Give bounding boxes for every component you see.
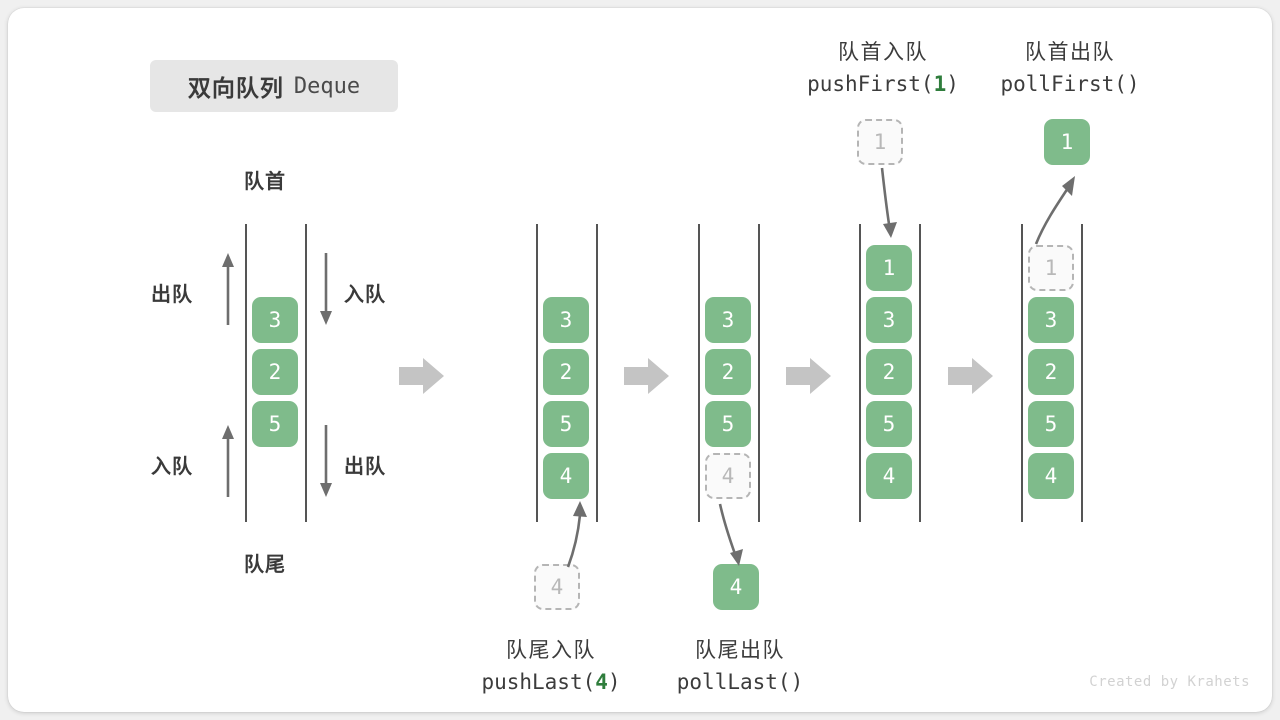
watermark: Created by Krahets bbox=[1089, 674, 1250, 690]
label-dequeue-rear: 出队 bbox=[344, 450, 386, 479]
rail-right-col5 bbox=[1081, 224, 1083, 522]
code-arg: 4 bbox=[595, 670, 608, 694]
box-col1-0: 3 bbox=[252, 297, 298, 343]
box-col5-outgoing: 1 bbox=[1044, 119, 1090, 165]
box-col5-0: 1 bbox=[1028, 245, 1074, 291]
code-suffix: ) bbox=[946, 72, 959, 96]
rail-right-col2 bbox=[596, 224, 598, 522]
rail-left-col1 bbox=[245, 224, 247, 522]
label-enqueue-front: 入队 bbox=[344, 278, 386, 307]
title-en: Deque bbox=[294, 74, 360, 99]
code-arg: 1 bbox=[934, 72, 947, 96]
box-col2-0: 3 bbox=[543, 297, 589, 343]
arrow-down-dequeue-rear bbox=[315, 423, 337, 499]
rear-label: 队尾 bbox=[244, 548, 286, 577]
rail-left-col2 bbox=[536, 224, 538, 522]
motion-arrow-push-first bbox=[853, 166, 933, 244]
arrow-up-enqueue-rear bbox=[217, 423, 239, 499]
caption-push-last-cn: 队尾入队 bbox=[451, 634, 651, 664]
box-col3-3: 4 bbox=[705, 453, 751, 499]
motion-arrow-poll-last bbox=[698, 502, 788, 574]
caption-poll-last-cn: 队尾出队 bbox=[640, 634, 840, 664]
box-col1-2: 5 bbox=[252, 401, 298, 447]
code-suffix: ) bbox=[608, 670, 621, 694]
box-col4-2: 2 bbox=[866, 349, 912, 395]
box-col3-2: 5 bbox=[705, 401, 751, 447]
rail-left-col3 bbox=[698, 224, 700, 522]
front-label: 队首 bbox=[244, 165, 286, 194]
arrow-down-enqueue-front bbox=[315, 251, 337, 327]
arrow-up-dequeue-front bbox=[217, 251, 239, 327]
title-cn: 双向队列 bbox=[188, 69, 284, 103]
motion-arrow-poll-first bbox=[1018, 166, 1098, 246]
caption-poll-first-cn: 队首出队 bbox=[970, 36, 1170, 66]
label-enqueue-rear: 入队 bbox=[151, 450, 193, 479]
box-col5-1: 3 bbox=[1028, 297, 1074, 343]
box-col4-4: 4 bbox=[866, 453, 912, 499]
box-col4-1: 3 bbox=[866, 297, 912, 343]
rail-left-col4 bbox=[859, 224, 861, 522]
rail-left-col5 bbox=[1021, 224, 1023, 522]
code-prefix: pollFirst( bbox=[1000, 72, 1126, 96]
step-arrow-2 bbox=[624, 357, 670, 395]
diagram-title-badge: 双向队列Deque bbox=[150, 60, 398, 112]
motion-arrow-push-last bbox=[528, 493, 618, 573]
code-prefix: pushFirst( bbox=[807, 72, 933, 96]
step-arrow-1 bbox=[399, 357, 445, 395]
box-col3-1: 2 bbox=[705, 349, 751, 395]
box-col3-0: 3 bbox=[705, 297, 751, 343]
code-prefix: pollLast( bbox=[677, 670, 791, 694]
code-prefix: pushLast( bbox=[481, 670, 595, 694]
rail-right-col4 bbox=[919, 224, 921, 522]
caption-poll-first-code: pollFirst() bbox=[970, 72, 1170, 96]
caption-poll-last-code: pollLast() bbox=[640, 670, 840, 694]
rail-right-col3 bbox=[758, 224, 760, 522]
box-col4-3: 5 bbox=[866, 401, 912, 447]
box-col2-1: 2 bbox=[543, 349, 589, 395]
step-arrow-4 bbox=[948, 357, 994, 395]
box-col5-2: 2 bbox=[1028, 349, 1074, 395]
diagram-canvas: 双向队列Deque 队首 队尾 出队 入队 入队 出队 bbox=[0, 0, 1280, 720]
step-arrow-3 bbox=[786, 357, 832, 395]
box-col4-0: 1 bbox=[866, 245, 912, 291]
box-col2-2: 5 bbox=[543, 401, 589, 447]
box-col1-1: 2 bbox=[252, 349, 298, 395]
diagram-card: 双向队列Deque 队首 队尾 出队 入队 入队 出队 bbox=[8, 8, 1272, 712]
code-suffix: ) bbox=[1127, 72, 1140, 96]
box-col5-4: 4 bbox=[1028, 453, 1074, 499]
code-suffix: ) bbox=[791, 670, 804, 694]
caption-push-first-cn: 队首入队 bbox=[783, 36, 983, 66]
label-dequeue-front: 出队 bbox=[151, 278, 193, 307]
box-col4-incoming: 1 bbox=[857, 119, 903, 165]
caption-push-last-code: pushLast(4) bbox=[441, 670, 661, 694]
rail-right-col1 bbox=[305, 224, 307, 522]
box-col5-3: 5 bbox=[1028, 401, 1074, 447]
caption-push-first-code: pushFirst(1) bbox=[773, 72, 993, 96]
